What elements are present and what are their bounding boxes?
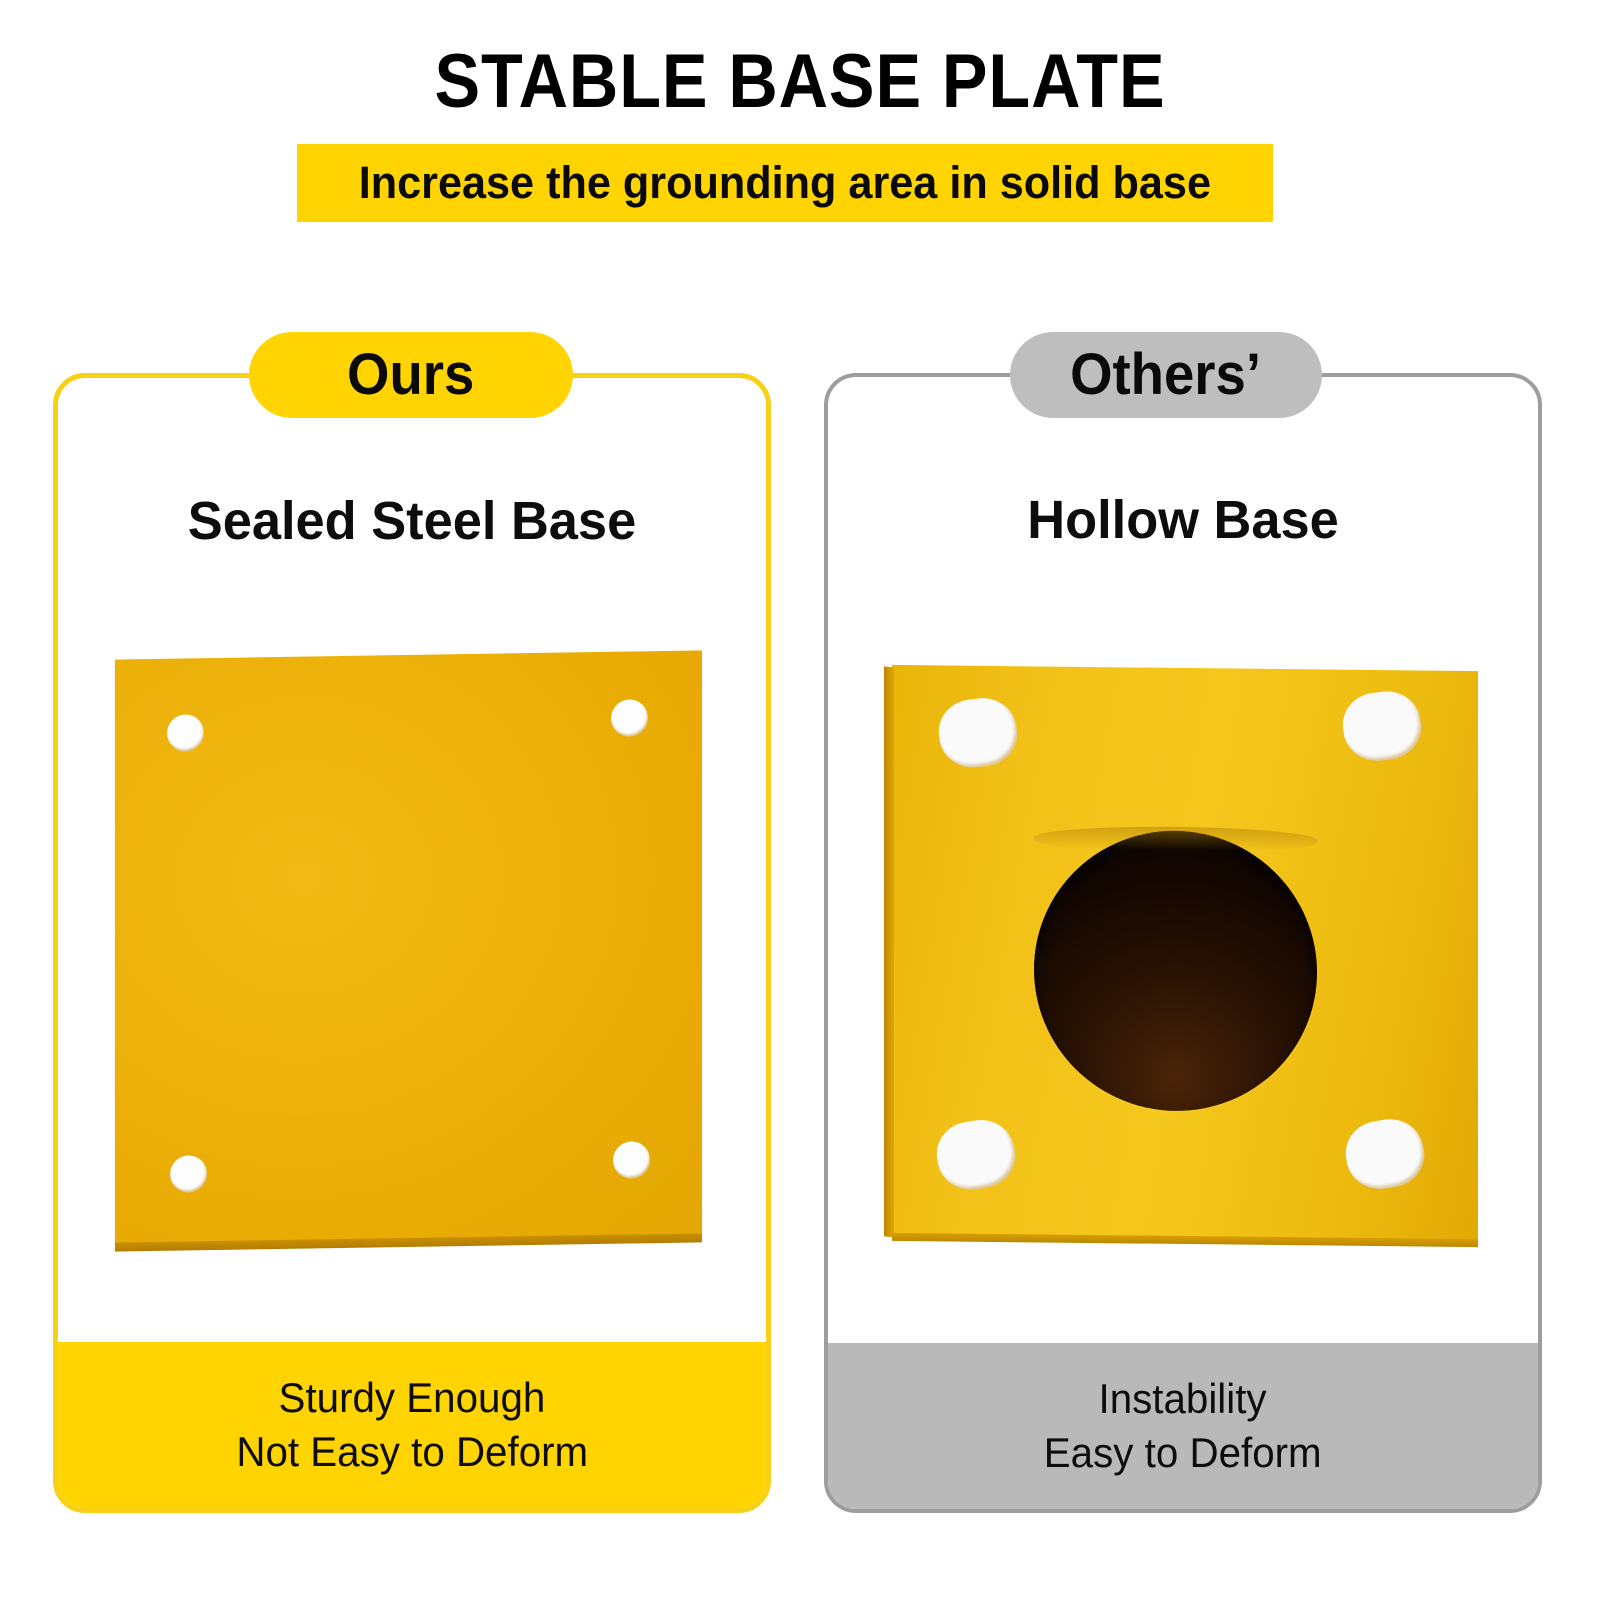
bolt-hole-bottom-left xyxy=(170,1155,207,1193)
page-title: STABLE BASE PLATE xyxy=(80,36,1520,128)
slot-hole-bottom-right xyxy=(1341,1114,1430,1194)
slot-hole-bottom-left xyxy=(932,1115,1021,1195)
comparison-card-ours: Sealed Steel Base Sturdy Enough Not Easy… xyxy=(53,373,771,1513)
footer-line-2-others: Easy to Deform xyxy=(1044,1426,1322,1480)
footer-line-2-ours: Not Easy to Deform xyxy=(236,1425,588,1479)
slot-hole-top-right xyxy=(1339,687,1426,764)
solid-steel-base-plate-image xyxy=(115,650,702,1244)
card-footer-others: Instability Easy to Deform xyxy=(828,1343,1538,1509)
card-footer-ours: Sturdy Enough Not Easy to Deform xyxy=(58,1342,766,1508)
product-image-solid-base xyxy=(58,378,766,1508)
plate-bottom-edge xyxy=(892,1233,1478,1247)
badge-ours: Ours xyxy=(249,332,573,418)
subtitle-text: Increase the grounding area in solid bas… xyxy=(359,157,1211,209)
badge-others: Others’ xyxy=(1010,332,1322,418)
bolt-hole-top-right xyxy=(611,699,648,737)
plate-edge-shadow xyxy=(115,1233,702,1251)
footer-line-1-ours: Sturdy Enough xyxy=(279,1371,546,1425)
bolt-hole-bottom-right xyxy=(613,1141,650,1179)
subtitle-banner: Increase the grounding area in solid bas… xyxy=(297,144,1273,222)
bolt-hole-top-left xyxy=(167,714,204,752)
product-image-hollow-base xyxy=(828,377,1538,1509)
footer-line-1-others: Instability xyxy=(1099,1372,1267,1426)
comparison-card-others: Hollow Base Instability Easy to Deform xyxy=(824,373,1542,1513)
plate-left-edge xyxy=(884,666,894,1237)
badge-label-others: Others’ xyxy=(1071,344,1262,406)
center-hole-lip xyxy=(1034,825,1317,852)
header: STABLE BASE PLATE Increase the grounding… xyxy=(0,0,1600,250)
hollow-base-plate-image xyxy=(892,665,1478,1241)
slot-hole-top-left xyxy=(935,694,1022,771)
center-hollow-hole xyxy=(1034,829,1317,1112)
badge-label-ours: Ours xyxy=(347,344,474,406)
